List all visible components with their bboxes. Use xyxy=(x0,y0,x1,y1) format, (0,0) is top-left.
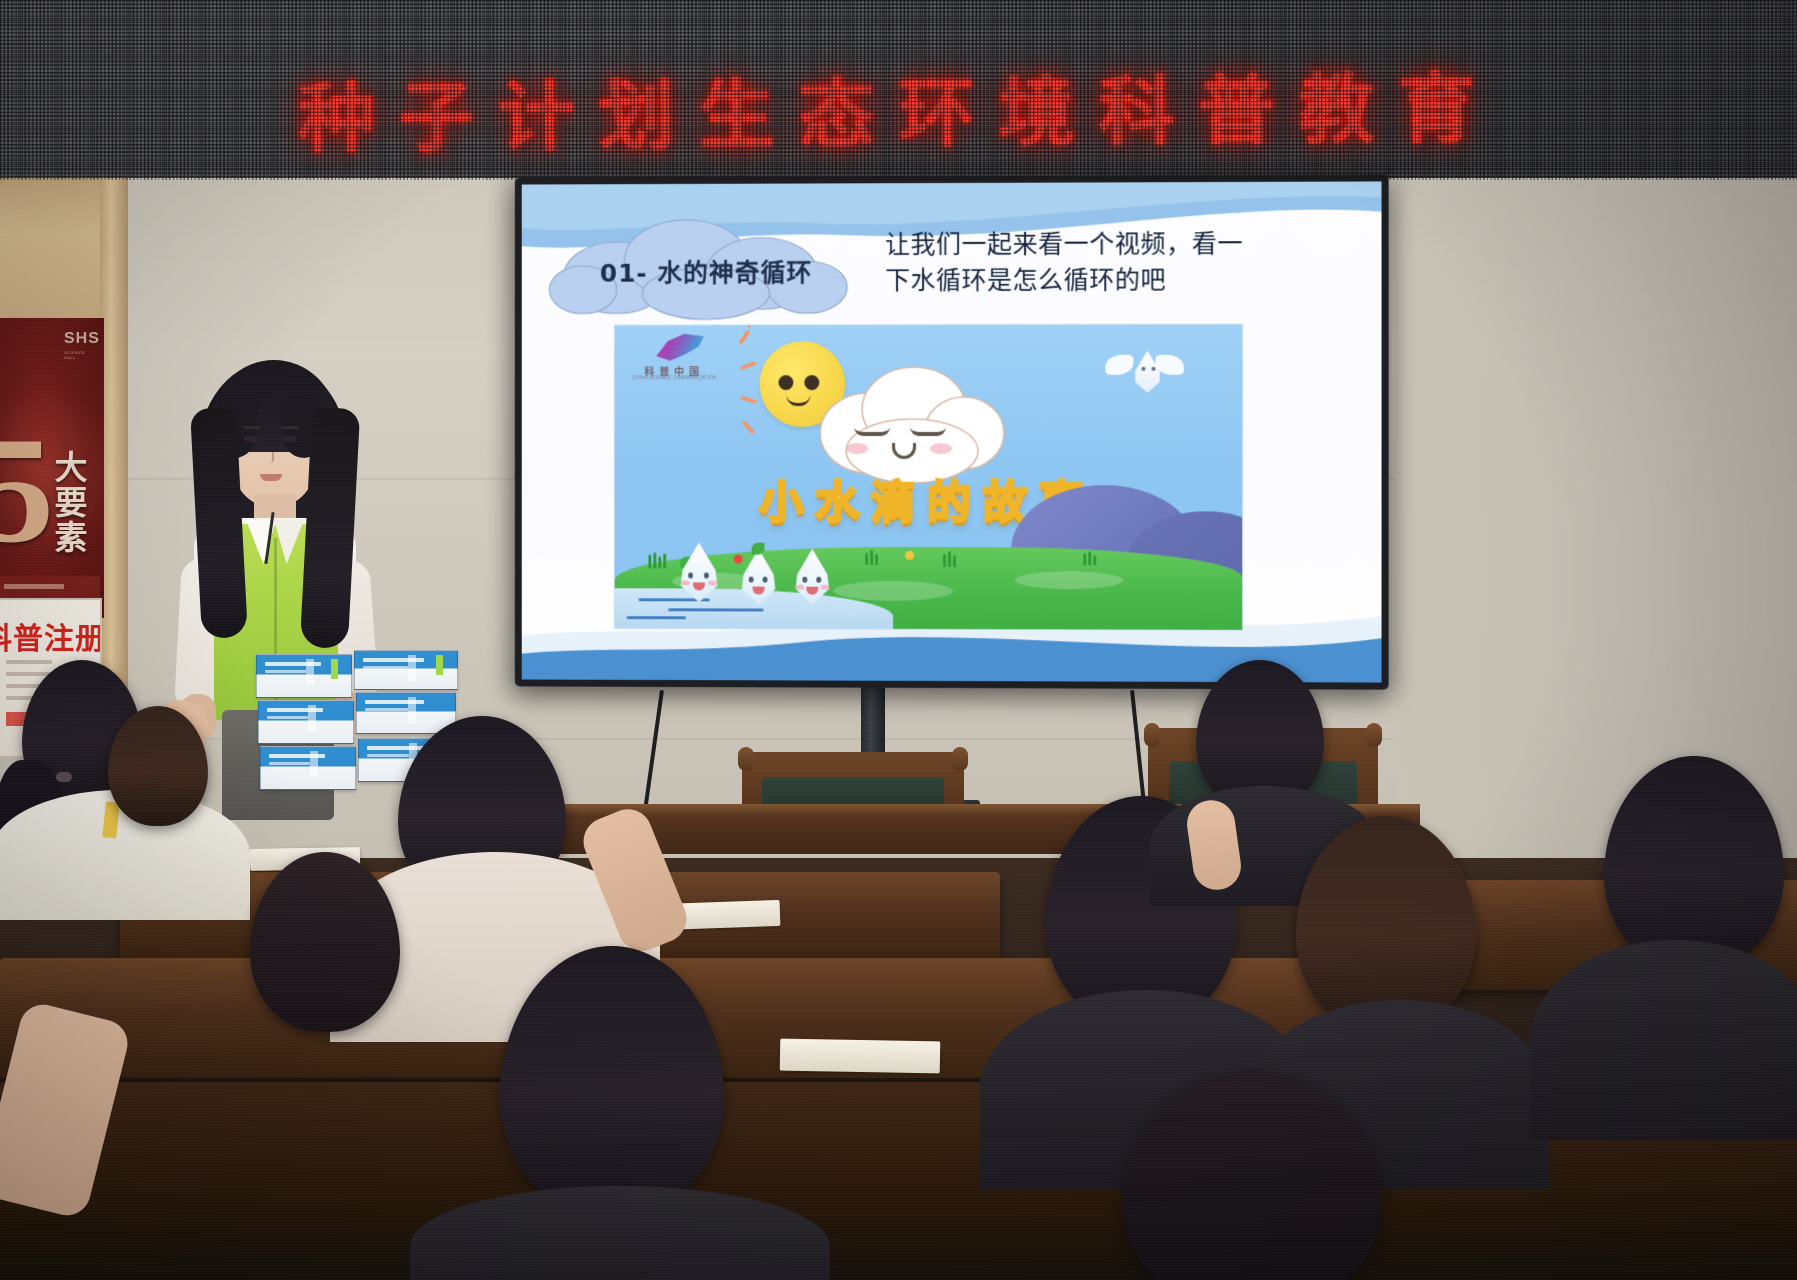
cloud-cheek-left xyxy=(846,443,868,454)
audience-shoulders xyxy=(1530,940,1797,1140)
presenter-mouth xyxy=(260,474,282,481)
slide-section-cloud: 01- 水的神奇循环 xyxy=(547,215,865,323)
material-box xyxy=(356,692,456,734)
material-box xyxy=(258,700,354,744)
logo-wing-icon xyxy=(654,333,706,363)
logo-en-text: CHINA SCIENCE COMMUNICATION xyxy=(629,375,720,380)
cloud-cheek-right xyxy=(930,443,952,454)
wood-trim-edge xyxy=(100,178,128,698)
water-drop-character-1 xyxy=(676,543,722,603)
presentation-display[interactable]: 01- 水的神奇循环 让我们一起来看一个视频，看一下水循环是怎么循环的吧 科普中… xyxy=(515,174,1389,689)
screenshot-root: 种子计划生态环境科普教育 5 大要素 SHSSCIENCE HALL 科普注册指… xyxy=(0,0,1797,1280)
poster-five-elements: 5 大要素 SHSSCIENCE HALL xyxy=(0,318,104,618)
water-drop-character-2 xyxy=(738,549,780,605)
poster-white-title: 科普注册指南 xyxy=(0,614,102,658)
cloud-eye-left xyxy=(854,427,890,436)
water-drop-character-3 xyxy=(791,549,833,605)
led-banner: 种子计划生态环境科普教育 xyxy=(0,0,1797,180)
papers-on-bench xyxy=(780,1039,941,1074)
slide-body-text: 让我们一起来看一个视频，看一下水循环是怎么循环的吧 xyxy=(885,226,1246,299)
material-box xyxy=(256,654,352,698)
poster-label: 大要素 xyxy=(40,450,86,555)
presenter-nose xyxy=(267,452,274,463)
presenter-eye-right xyxy=(282,436,297,442)
flying-water-drop xyxy=(1105,347,1183,395)
led-banner-text: 种子计划生态环境科普教育 xyxy=(0,44,1797,170)
embedded-video-thumbnail[interactable]: 科普中国 CHINA SCIENCE COMMUNICATION xyxy=(614,324,1243,631)
slide-section-label: 01- 水的神奇循环 xyxy=(547,253,865,290)
slide-canvas: 01- 水的神奇循环 让我们一起来看一个视频，看一下水循环是怎么循环的吧 科普中… xyxy=(522,181,1382,682)
cloud-eye-right xyxy=(910,427,946,436)
material-box xyxy=(354,650,458,690)
material-box xyxy=(260,746,356,790)
poster-logo: SHSSCIENCE HALL xyxy=(64,330,98,358)
presenter-eye-left xyxy=(244,436,259,442)
kepu-china-logo: 科普中国 CHINA SCIENCE COMMUNICATION xyxy=(629,333,720,385)
